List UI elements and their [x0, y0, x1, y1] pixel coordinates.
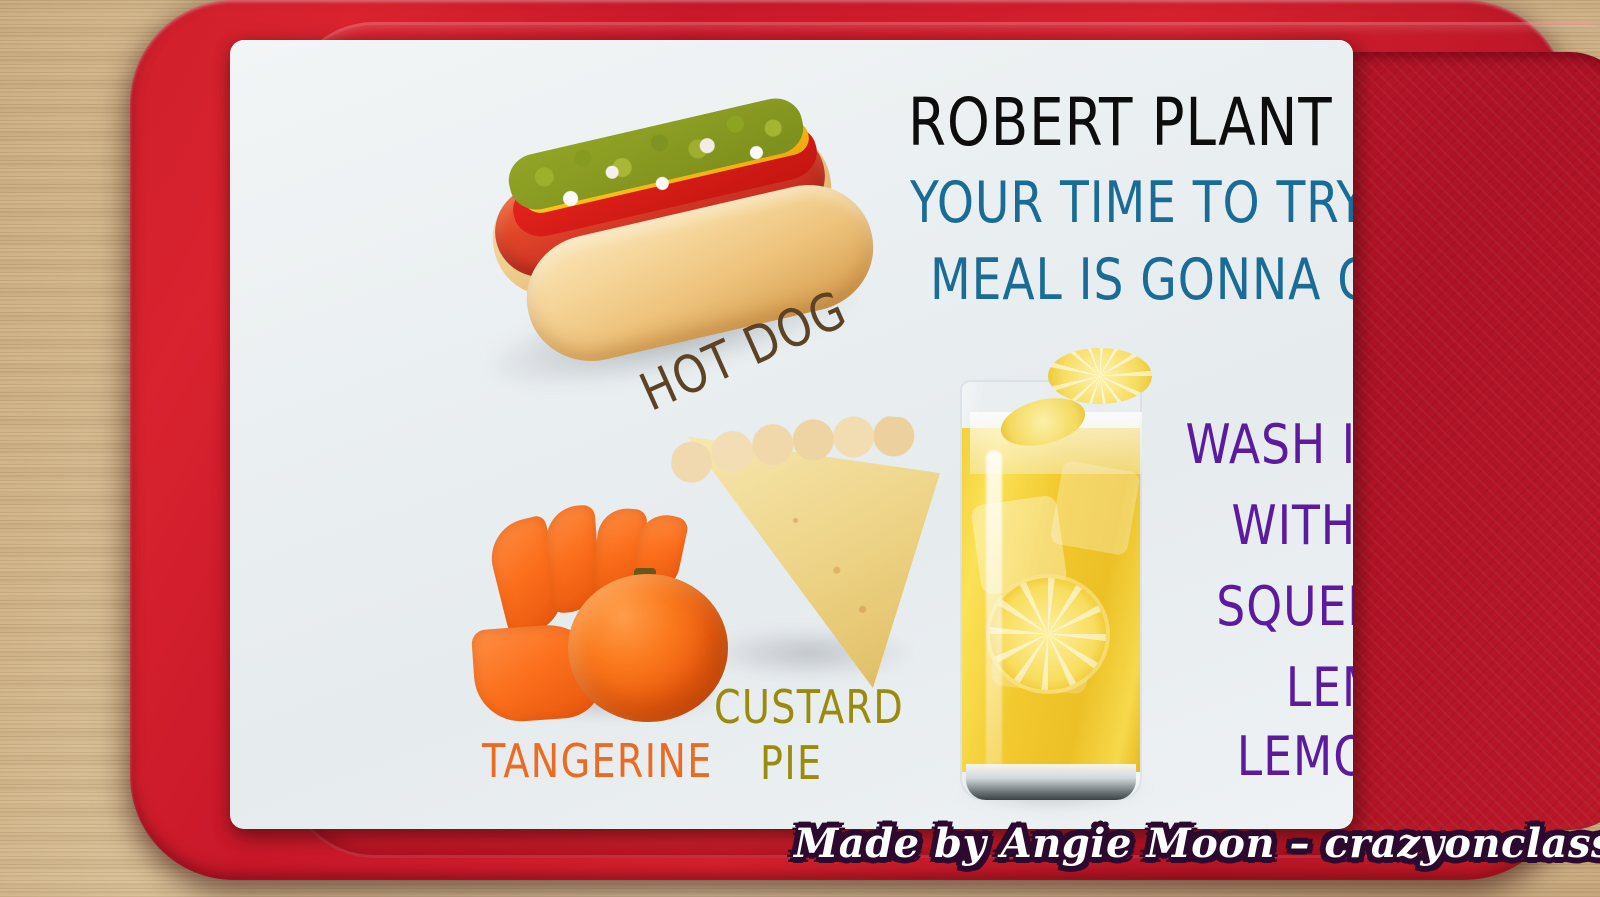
lemon-slice-submerged [990, 578, 1106, 690]
lemon-slice-garnish [1048, 348, 1152, 404]
ice-cube [1049, 460, 1140, 556]
drink-line-4: LEMON [1173, 661, 1353, 715]
drink-line-1: WASH IT DOWN [1173, 418, 1353, 472]
label-custard: CUSTARD [714, 684, 904, 730]
poster-canvas: ROBERT PLANT MEAL YOUR TIME TO TRY THIS … [0, 0, 1600, 897]
subtitle-line-1: YOUR TIME TO TRY THIS [910, 175, 1353, 232]
glass-body [960, 380, 1142, 800]
glass-highlight [986, 450, 1002, 780]
white-menu-card: ROBERT PLANT MEAL YOUR TIME TO TRY THIS … [230, 40, 1353, 829]
drink-line-3: SQUEEZE MY [1173, 580, 1353, 634]
pie-crimped-crust [669, 401, 925, 514]
subtitle-line-2: MEAL IS GONNA COME [930, 252, 1353, 309]
lemonade-glass-photo [952, 346, 1152, 816]
drink-line-2: WITH SOME [1173, 499, 1353, 553]
label-pie: PIE [760, 740, 822, 786]
glass-base [966, 764, 1136, 800]
custard-pie-photo [662, 402, 952, 702]
page-title: ROBERT PLANT MEAL [908, 90, 1353, 156]
label-tangerine: TANGERINE [482, 738, 713, 784]
watermark-credit: Made by Angie Moon – crazyonclassicrock.… [794, 820, 1600, 867]
drink-line-5: LEMONADE [1173, 730, 1353, 784]
